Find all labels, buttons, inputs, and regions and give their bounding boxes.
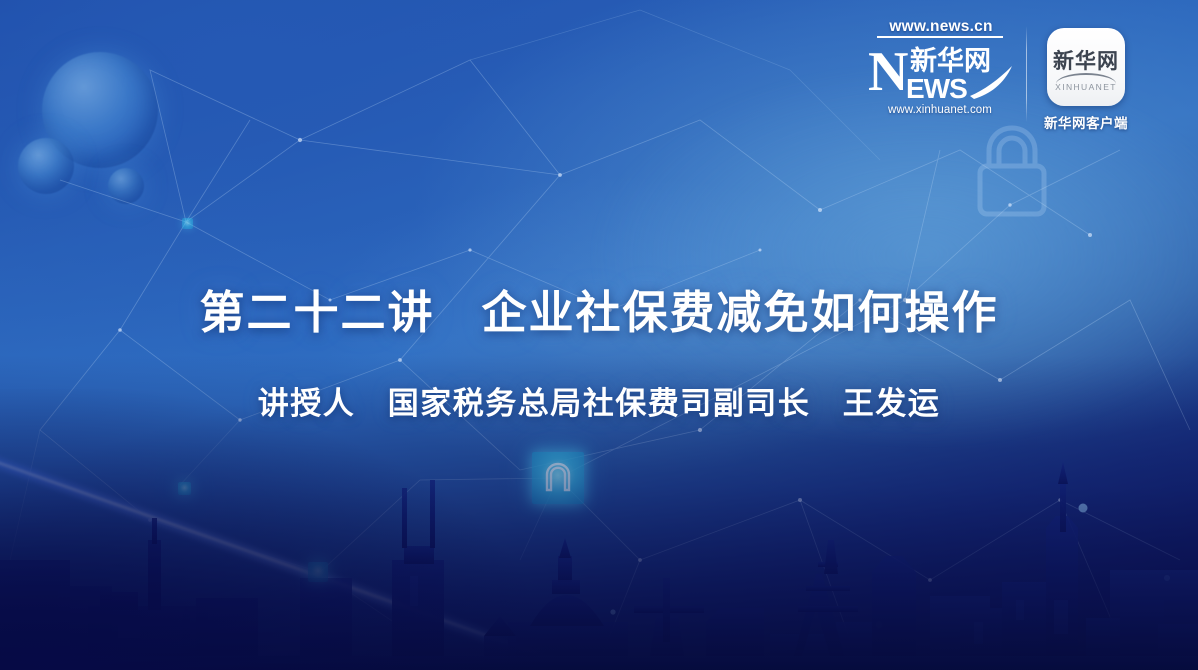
lecture-presenter-line: 讲授人 国家税务总局社保费司副司长 王发运 [0,383,1198,425]
app-icon-chinese-label: 新华网 [1047,45,1125,75]
app-icon-english-label: XINHUANET [1047,82,1125,92]
app-badge-label: 新华网客户端 [1044,112,1128,132]
news-logo-url-bottom: www.xinhuanet.com [866,104,1014,117]
branding-area: www.news.cn N EWS 新华网 www.xinhuanet.com [866,18,1166,142]
slide-canvas: www.news.cn N EWS 新华网 www.xinhuanet.com [0,0,1198,670]
title-block: 第二十二讲 企业社保费减免如何操作 讲授人 国家税务总局社保费司副司长 王发运 [0,284,1198,425]
news-logo-mark: N EWS 新华网 [866,40,1014,102]
xinhuanet-app-badge[interactable]: 新华网 XINHUANET 新华网客户端 [1044,28,1128,132]
app-icon[interactable]: 新华网 XINHUANET [1047,28,1125,106]
svg-text:EWS: EWS [906,73,967,102]
svg-text:新华网: 新华网 [910,45,991,76]
branding-divider [1026,26,1027,122]
news-logo-url-top: www.news.cn [866,18,1014,35]
lecture-main-title: 第二十二讲 企业社保费减免如何操作 [0,284,1198,342]
svg-text:N: N [868,41,908,102]
tech-node-chip-tiny [182,218,193,229]
news-logo-divider [877,36,1003,38]
xinhua-news-logo[interactable]: www.news.cn N EWS 新华网 www.xinhuanet.com [866,18,1014,134]
bottom-left-vignette [0,389,551,670]
